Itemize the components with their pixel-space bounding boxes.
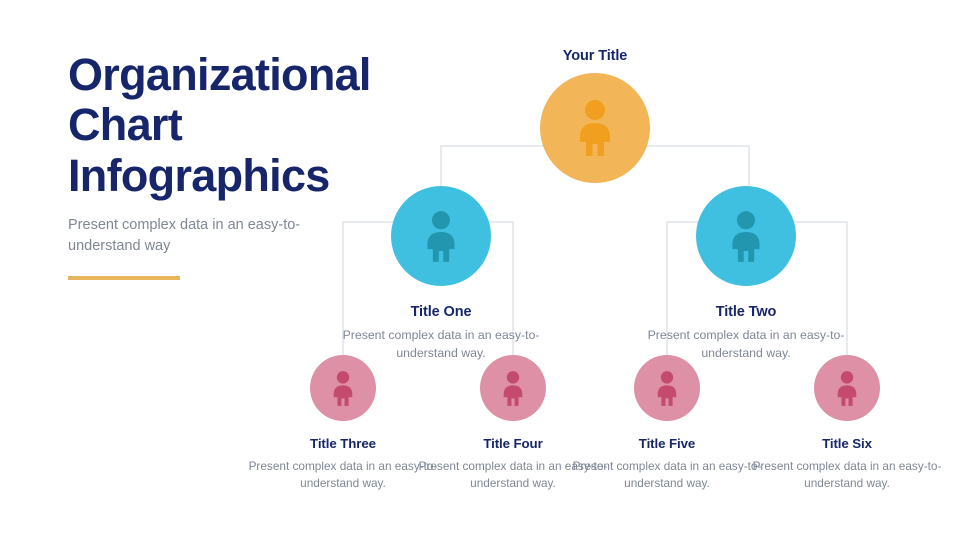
org-node-one-circle: [391, 186, 491, 286]
slide-canvas: Organizational Chart Infographics Presen…: [0, 0, 980, 551]
person-icon: [654, 371, 680, 406]
org-node-two-title: Title Two: [631, 304, 861, 320]
person-icon: [574, 100, 616, 156]
org-node-three-description: Present complex data in an easy-to-under…: [248, 458, 438, 492]
org-node-five-title: Title Five: [572, 436, 762, 451]
org-node-four-circle: [480, 355, 546, 421]
accent-underline-bar: [68, 276, 180, 280]
page-subtitle: Present complex data in an easy-to-under…: [68, 215, 330, 256]
org-node-three[interactable]: Title Three Present complex data in an e…: [248, 355, 438, 492]
org-node-root-title: Your Title: [495, 48, 695, 64]
person-icon: [500, 371, 526, 406]
org-node-three-title: Title Three: [248, 436, 438, 451]
org-node-six-description: Present complex data in an easy-to-under…: [752, 458, 942, 492]
org-node-one[interactable]: Title One Present complex data in an eas…: [326, 186, 556, 362]
org-node-five[interactable]: Title Five Present complex data in an ea…: [572, 355, 762, 492]
page-title: Organizational Chart Infographics: [68, 50, 398, 201]
org-node-six[interactable]: Title Six Present complex data in an eas…: [752, 355, 942, 492]
org-node-root[interactable]: Your Title: [495, 48, 695, 183]
org-node-five-circle: [634, 355, 700, 421]
org-node-six-circle: [814, 355, 880, 421]
org-node-five-description: Present complex data in an easy-to-under…: [572, 458, 762, 492]
org-node-root-circle: [540, 73, 650, 183]
person-icon: [330, 371, 356, 406]
org-node-two[interactable]: Title Two Present complex data in an eas…: [631, 186, 861, 362]
org-node-six-title: Title Six: [752, 436, 942, 451]
person-icon: [727, 211, 765, 262]
person-icon: [834, 371, 860, 406]
org-node-three-circle: [310, 355, 376, 421]
org-node-one-title: Title One: [326, 304, 556, 320]
org-node-two-circle: [696, 186, 796, 286]
person-icon: [422, 211, 460, 262]
